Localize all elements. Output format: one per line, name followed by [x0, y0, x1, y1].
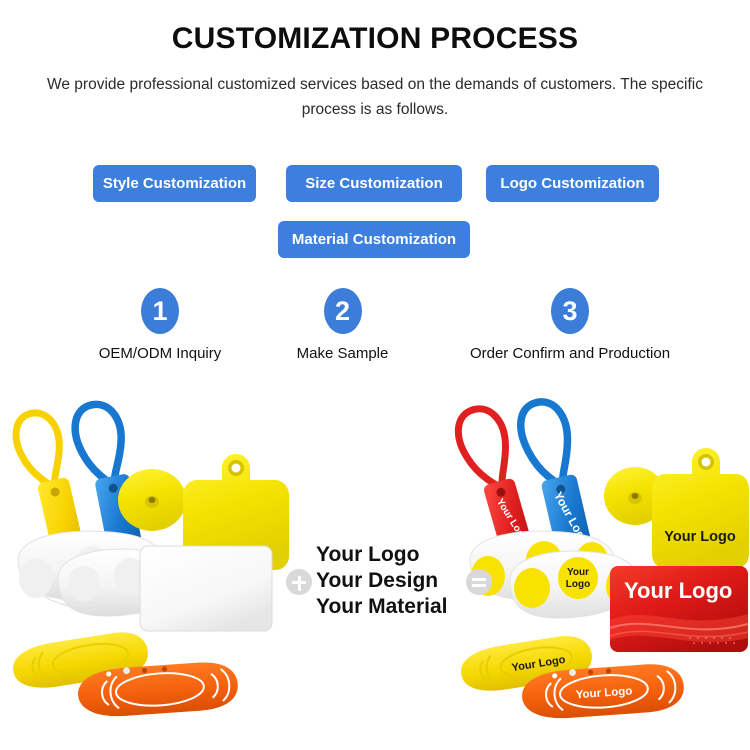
plus-icon: [286, 569, 312, 595]
blank-products-image: [0, 388, 300, 750]
customization-inputs-text: Your Logo Your Design Your Material: [316, 542, 476, 620]
step-label-2: Make Sample: [265, 345, 420, 362]
logo-text-paper-band-line2: Logo: [566, 579, 590, 590]
process-step-3: 3 Order Confirm and Production: [450, 288, 690, 362]
center-line-logo: Your Logo: [316, 542, 476, 568]
page-title: CUSTOMIZATION PROCESS: [0, 22, 750, 56]
ear-tag-large-yellow-branded: Your Logo: [652, 448, 749, 568]
logo-text-paper-band-line1: Your: [567, 567, 589, 578]
logo-text-red-card: Your Logo: [624, 578, 732, 603]
process-step-1: 1 OEM/ODM Inquiry: [60, 288, 260, 362]
badge-material-customization[interactable]: Material Customization: [278, 221, 470, 258]
step-label-1: OEM/ODM Inquiry: [60, 345, 260, 362]
ear-tag-button-yellow: [118, 469, 186, 531]
center-line-design: Your Design: [316, 568, 476, 594]
step-number-badge-3: 3: [551, 288, 589, 334]
branded-products-image: Your Logo Your Logo Your Log: [452, 388, 750, 750]
page-subtitle: We provide professional customized servi…: [0, 72, 750, 122]
branded-card-red: Your Logo: [610, 566, 748, 652]
step-number-badge-2: 2: [324, 288, 362, 334]
badge-logo-customization[interactable]: Logo Customization: [486, 165, 659, 202]
badge-style-customization[interactable]: Style Customization: [93, 165, 256, 202]
process-step-2: 2 Make Sample: [265, 288, 420, 362]
blank-card-white: [140, 546, 272, 631]
step-number-badge-1: 1: [141, 288, 179, 334]
badge-size-customization[interactable]: Size Customization: [286, 165, 462, 202]
customization-process-page: CUSTOMIZATION PROCESS We provide profess…: [0, 0, 750, 750]
logo-text-ear-tag: Your Logo: [664, 529, 736, 545]
step-label-3: Order Confirm and Production: [450, 345, 690, 362]
center-line-material: Your Material: [316, 594, 476, 620]
